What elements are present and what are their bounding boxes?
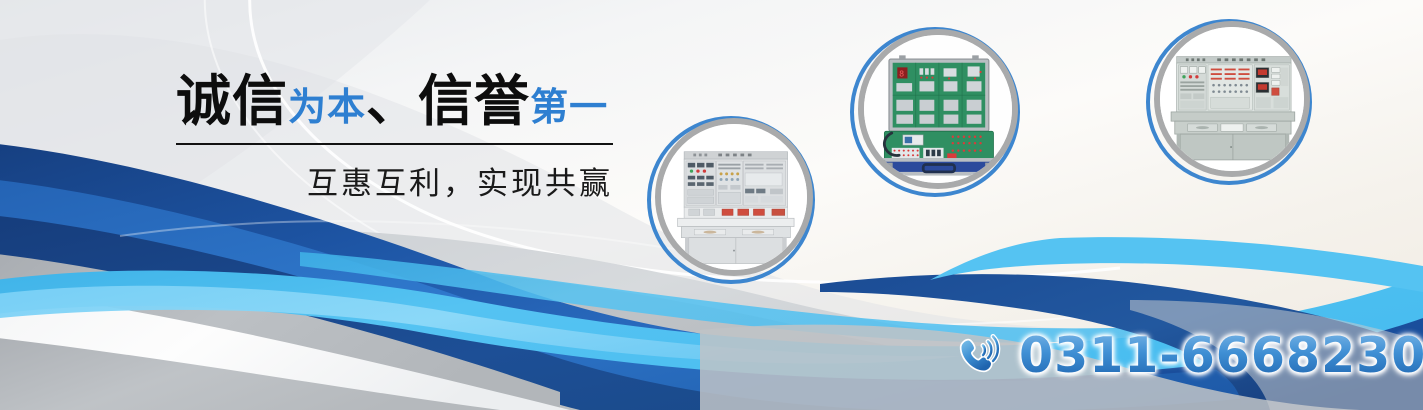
product-photo-test-bench: [1160, 27, 1304, 171]
product-photo-training-case: 8: [864, 35, 1012, 183]
promotional-banner: 诚信为本、信誉第一 互惠互利，实现共赢: [0, 0, 1423, 410]
product-circle-test-bench[interactable]: [1145, 18, 1313, 186]
circle-gray-frame: [1154, 21, 1310, 177]
contact-phone-line[interactable]: 0311-66682303: [955, 327, 1423, 384]
circle-gray-frame: 8: [858, 29, 1018, 189]
headline: 诚信为本、信誉第一: [176, 74, 622, 129]
headline-part-2: 为本: [288, 85, 366, 129]
phone-number-text[interactable]: 0311-66682303: [1019, 327, 1423, 384]
subslogan: 互惠互利，实现共赢: [176, 158, 613, 203]
svg-text:8: 8: [899, 69, 904, 79]
phone-ringing-icon: [955, 331, 1005, 381]
product-circle-workbench[interactable]: [646, 115, 816, 285]
product-photo-workbench: [661, 124, 807, 270]
slogan-block: 诚信为本、信誉第一: [176, 74, 622, 129]
product-circle-training-case[interactable]: 8: [849, 26, 1021, 198]
slogan-divider: [176, 143, 613, 145]
headline-part-3: 信誉: [418, 69, 530, 133]
headline-part-4: 第一: [530, 85, 608, 129]
headline-separator: 、: [366, 73, 418, 133]
headline-part-1: 诚信: [176, 69, 288, 133]
circle-gray-frame: [655, 118, 813, 276]
